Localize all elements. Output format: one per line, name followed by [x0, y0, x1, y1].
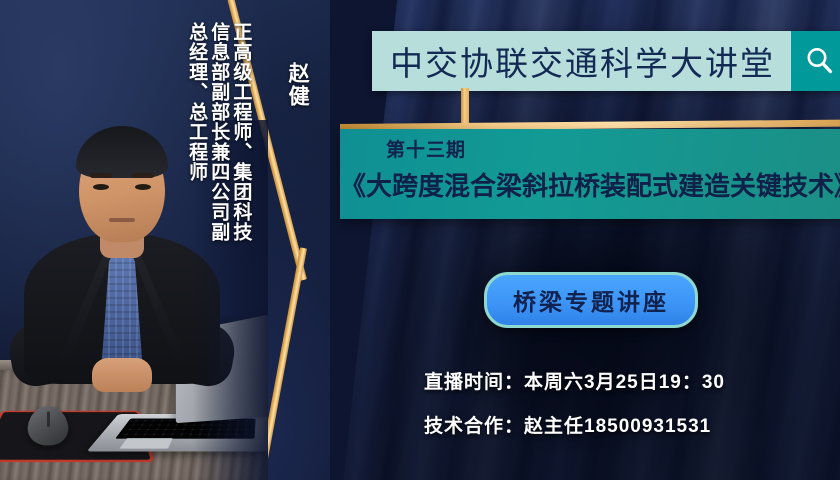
poster-canvas: 正高级工程师、集团科技 信息部副部长兼四公司副 总经理、总工程师 赵健 中交协联…: [0, 0, 840, 480]
program-title: 中交协联交通科学大讲堂: [372, 31, 791, 91]
topic-badge[interactable]: 桥梁专题讲座: [484, 272, 698, 328]
program-header-bar: 中交协联交通科学大讲堂: [372, 31, 840, 91]
clasped-hands: [92, 358, 152, 392]
speaker-name: 赵健: [286, 62, 309, 108]
lecture-title: 《大跨度混合梁斜拉桥装配式建造关键技术》: [340, 166, 840, 203]
mouth: [109, 218, 135, 222]
eyebrow-right: [132, 173, 154, 178]
lecture-title-block: 第十三期 《大跨度混合梁斜拉桥装配式建造关键技术》: [340, 129, 840, 219]
laptop-trackpad: [118, 438, 173, 448]
speaker-credentials: 正高级工程师、集团科技 信息部副部长兼四公司副 总经理、总工程师: [186, 22, 250, 242]
eye-left: [93, 184, 109, 190]
speaker-credential-line-1: 正高级工程师、集团科技: [230, 22, 250, 242]
eyebrow-left: [90, 173, 112, 178]
broadcast-time: 直播时间：本周六3月25日19：30: [424, 367, 725, 394]
eye-right: [135, 184, 151, 190]
speaker-credential-line-3: 总经理、总工程师: [186, 22, 206, 182]
speaker-credential-line-2: 信息部副部长兼四公司副: [208, 22, 228, 242]
contact-info: 技术合作：赵主任18500931531: [424, 411, 711, 438]
lecture-issue-number: 第十三期: [386, 135, 840, 162]
search-icon[interactable]: [791, 31, 840, 91]
hair: [76, 126, 168, 178]
gold-connector-stem: [461, 88, 469, 126]
